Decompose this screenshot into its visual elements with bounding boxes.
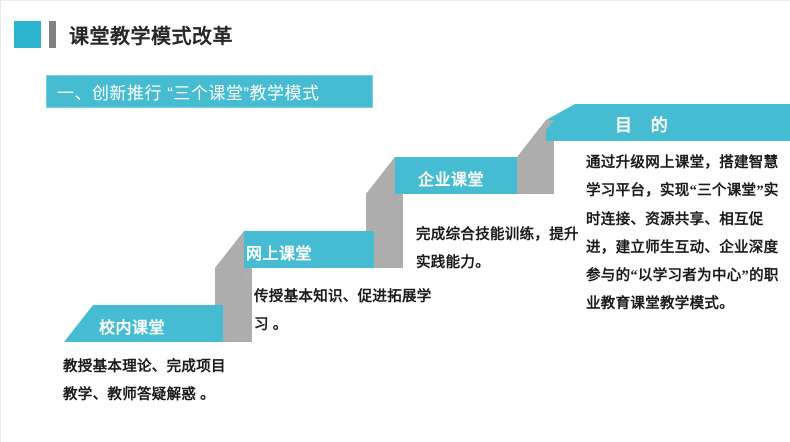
step-label-1: 校内课堂 xyxy=(99,314,165,338)
step-description-4: 通过升级网上课堂，搭建智慧学习平台，实现“三个课堂”实时连接、资源共享、相互促进… xyxy=(586,149,783,319)
step-label-3: 企业课堂 xyxy=(418,166,484,190)
step-description-1: 教授基本理论、完成项目教学、教师答疑解惑 。 xyxy=(63,353,238,410)
header-square-icon xyxy=(14,21,41,48)
section-banner-label: 一、创新推行 “三个课堂”教学模式 xyxy=(57,79,320,104)
step-description-3: 完成综合技能训练，提升实践能力。 xyxy=(416,221,588,278)
step-description-2: 传授基本知识、促进拓展学习 。 xyxy=(254,283,432,340)
page-header: 课堂教学模式改革 xyxy=(14,18,233,50)
section-banner: 一、创新推行 “三个课堂”教学模式 xyxy=(46,75,373,108)
slide-canvas: 课堂教学模式改革 一、创新推行 “三个课堂”教学模式 xyxy=(0,0,790,442)
page-title: 课堂教学模式改革 xyxy=(69,20,233,49)
step-label-4: 目 的 xyxy=(615,111,675,136)
header-bar-icon xyxy=(49,21,56,48)
step-label-2: 网上课堂 xyxy=(246,240,312,264)
